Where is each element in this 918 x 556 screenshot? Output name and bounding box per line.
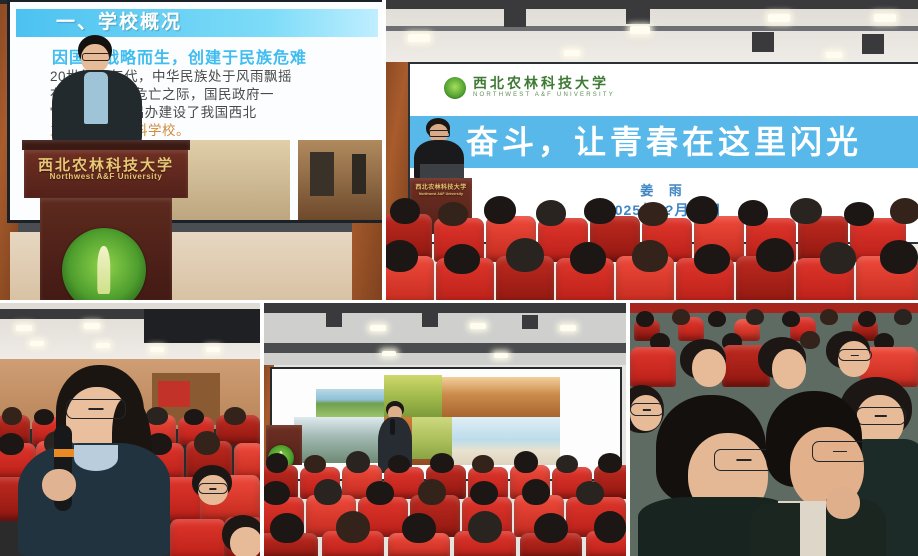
ceiling-light	[560, 325, 576, 331]
ceiling-light	[370, 325, 386, 331]
podium-name-en: Northwest A&F University	[24, 172, 188, 181]
student-face	[772, 349, 806, 389]
laptop	[420, 164, 464, 178]
podium-name-cn: 西北农林科技大学	[410, 182, 472, 191]
photo-bottom-left	[0, 303, 260, 556]
ceiling-light	[84, 323, 100, 329]
student-jacket	[750, 503, 800, 556]
ceiling-light	[30, 341, 44, 346]
ceiling-light	[494, 353, 508, 358]
ceiling-beam	[264, 343, 626, 353]
student-glasses-icon	[630, 403, 664, 416]
ceiling-light	[408, 34, 430, 42]
photo-collage: 一、学校概况 因国家战略而生，创建于民族危难 20世纪30年代，中华民族处于风雨…	[0, 0, 918, 556]
slide-photo-doorway	[352, 154, 366, 194]
student-face	[230, 527, 260, 556]
student-glasses-icon	[198, 483, 228, 494]
photo-top-right: 西北农林科技大学 NORTHWEST A&F UNIVERSITY 奋斗，让青春…	[386, 0, 918, 300]
questioner-glasses-icon	[66, 399, 126, 419]
ceiling-lamp-housing	[862, 34, 884, 54]
speaker-microphone	[390, 419, 395, 435]
photo-bottom-middle	[264, 303, 626, 556]
slide-title-banner: 奋斗，让青春在这里闪光	[410, 116, 918, 168]
speaker-glasses	[82, 53, 110, 61]
ceiling-lamp-housing	[752, 32, 774, 52]
ceiling-lamp-housing	[422, 313, 438, 327]
audience-area	[264, 451, 626, 556]
ceiling-lamp-housing	[504, 5, 526, 27]
ceiling-lamp-housing	[326, 313, 342, 327]
student-glasses-icon	[812, 441, 868, 462]
projector-housing	[144, 309, 260, 343]
collage-tile-brown-terrain	[442, 377, 560, 417]
ceiling-beam	[386, 26, 918, 31]
ceiling-beam	[264, 303, 626, 313]
seat	[630, 347, 676, 387]
questioner-collar	[74, 445, 118, 471]
ceiling-light	[16, 325, 32, 331]
slide-title-text: 奋斗，让青春在这里闪光	[410, 116, 918, 168]
podium-top	[22, 140, 190, 150]
ceiling-light	[96, 343, 110, 348]
wall-banner	[158, 381, 190, 407]
student-glasses-icon	[838, 349, 872, 361]
ceiling-light	[826, 52, 842, 58]
slide-header-text: 一、学校概况	[16, 9, 378, 37]
logo-name-cn: 西北农林科技大学	[473, 76, 615, 91]
university-logo: 西北农林科技大学 NORTHWEST A&F UNIVERSITY	[444, 76, 615, 100]
ceiling-light	[382, 351, 396, 356]
slide-photo-window	[310, 152, 334, 196]
ceiling-light	[768, 14, 790, 22]
microphone-band	[54, 449, 74, 457]
ceiling-light	[206, 347, 220, 352]
ceiling-lamp-housing	[626, 2, 650, 24]
ceiling-light	[874, 14, 896, 22]
student-hand	[826, 487, 860, 519]
ceiling-light	[564, 50, 580, 56]
logo-emblem-icon	[444, 77, 466, 99]
speaker-shirt	[84, 72, 108, 124]
slide-header: 一、学校概况	[16, 9, 378, 37]
ceiling-light	[630, 26, 650, 34]
ceiling-light	[470, 323, 486, 329]
ceiling-lamp-housing	[522, 315, 538, 329]
ceiling-beam	[386, 0, 918, 9]
ceiling-light	[150, 347, 164, 352]
slide-presenter: 姜 雨	[410, 180, 918, 199]
photo-top-left: 一、学校概况 因国家战略而生，创建于民族危难 20世纪30年代，中华民族处于风雨…	[0, 0, 382, 300]
logo-name-en: NORTHWEST A&F UNIVERSITY	[473, 91, 615, 100]
photo-bottom-right	[630, 303, 918, 556]
student-face	[692, 349, 726, 387]
student-glasses-icon	[714, 449, 774, 471]
speaker-glasses	[429, 130, 450, 137]
podium-name-en: Northwest A&F University	[410, 192, 472, 196]
questioner-hand	[42, 469, 76, 501]
audience-area	[386, 200, 918, 300]
student-glasses-icon	[856, 407, 906, 425]
collage-tile-green-landscape	[316, 389, 384, 417]
